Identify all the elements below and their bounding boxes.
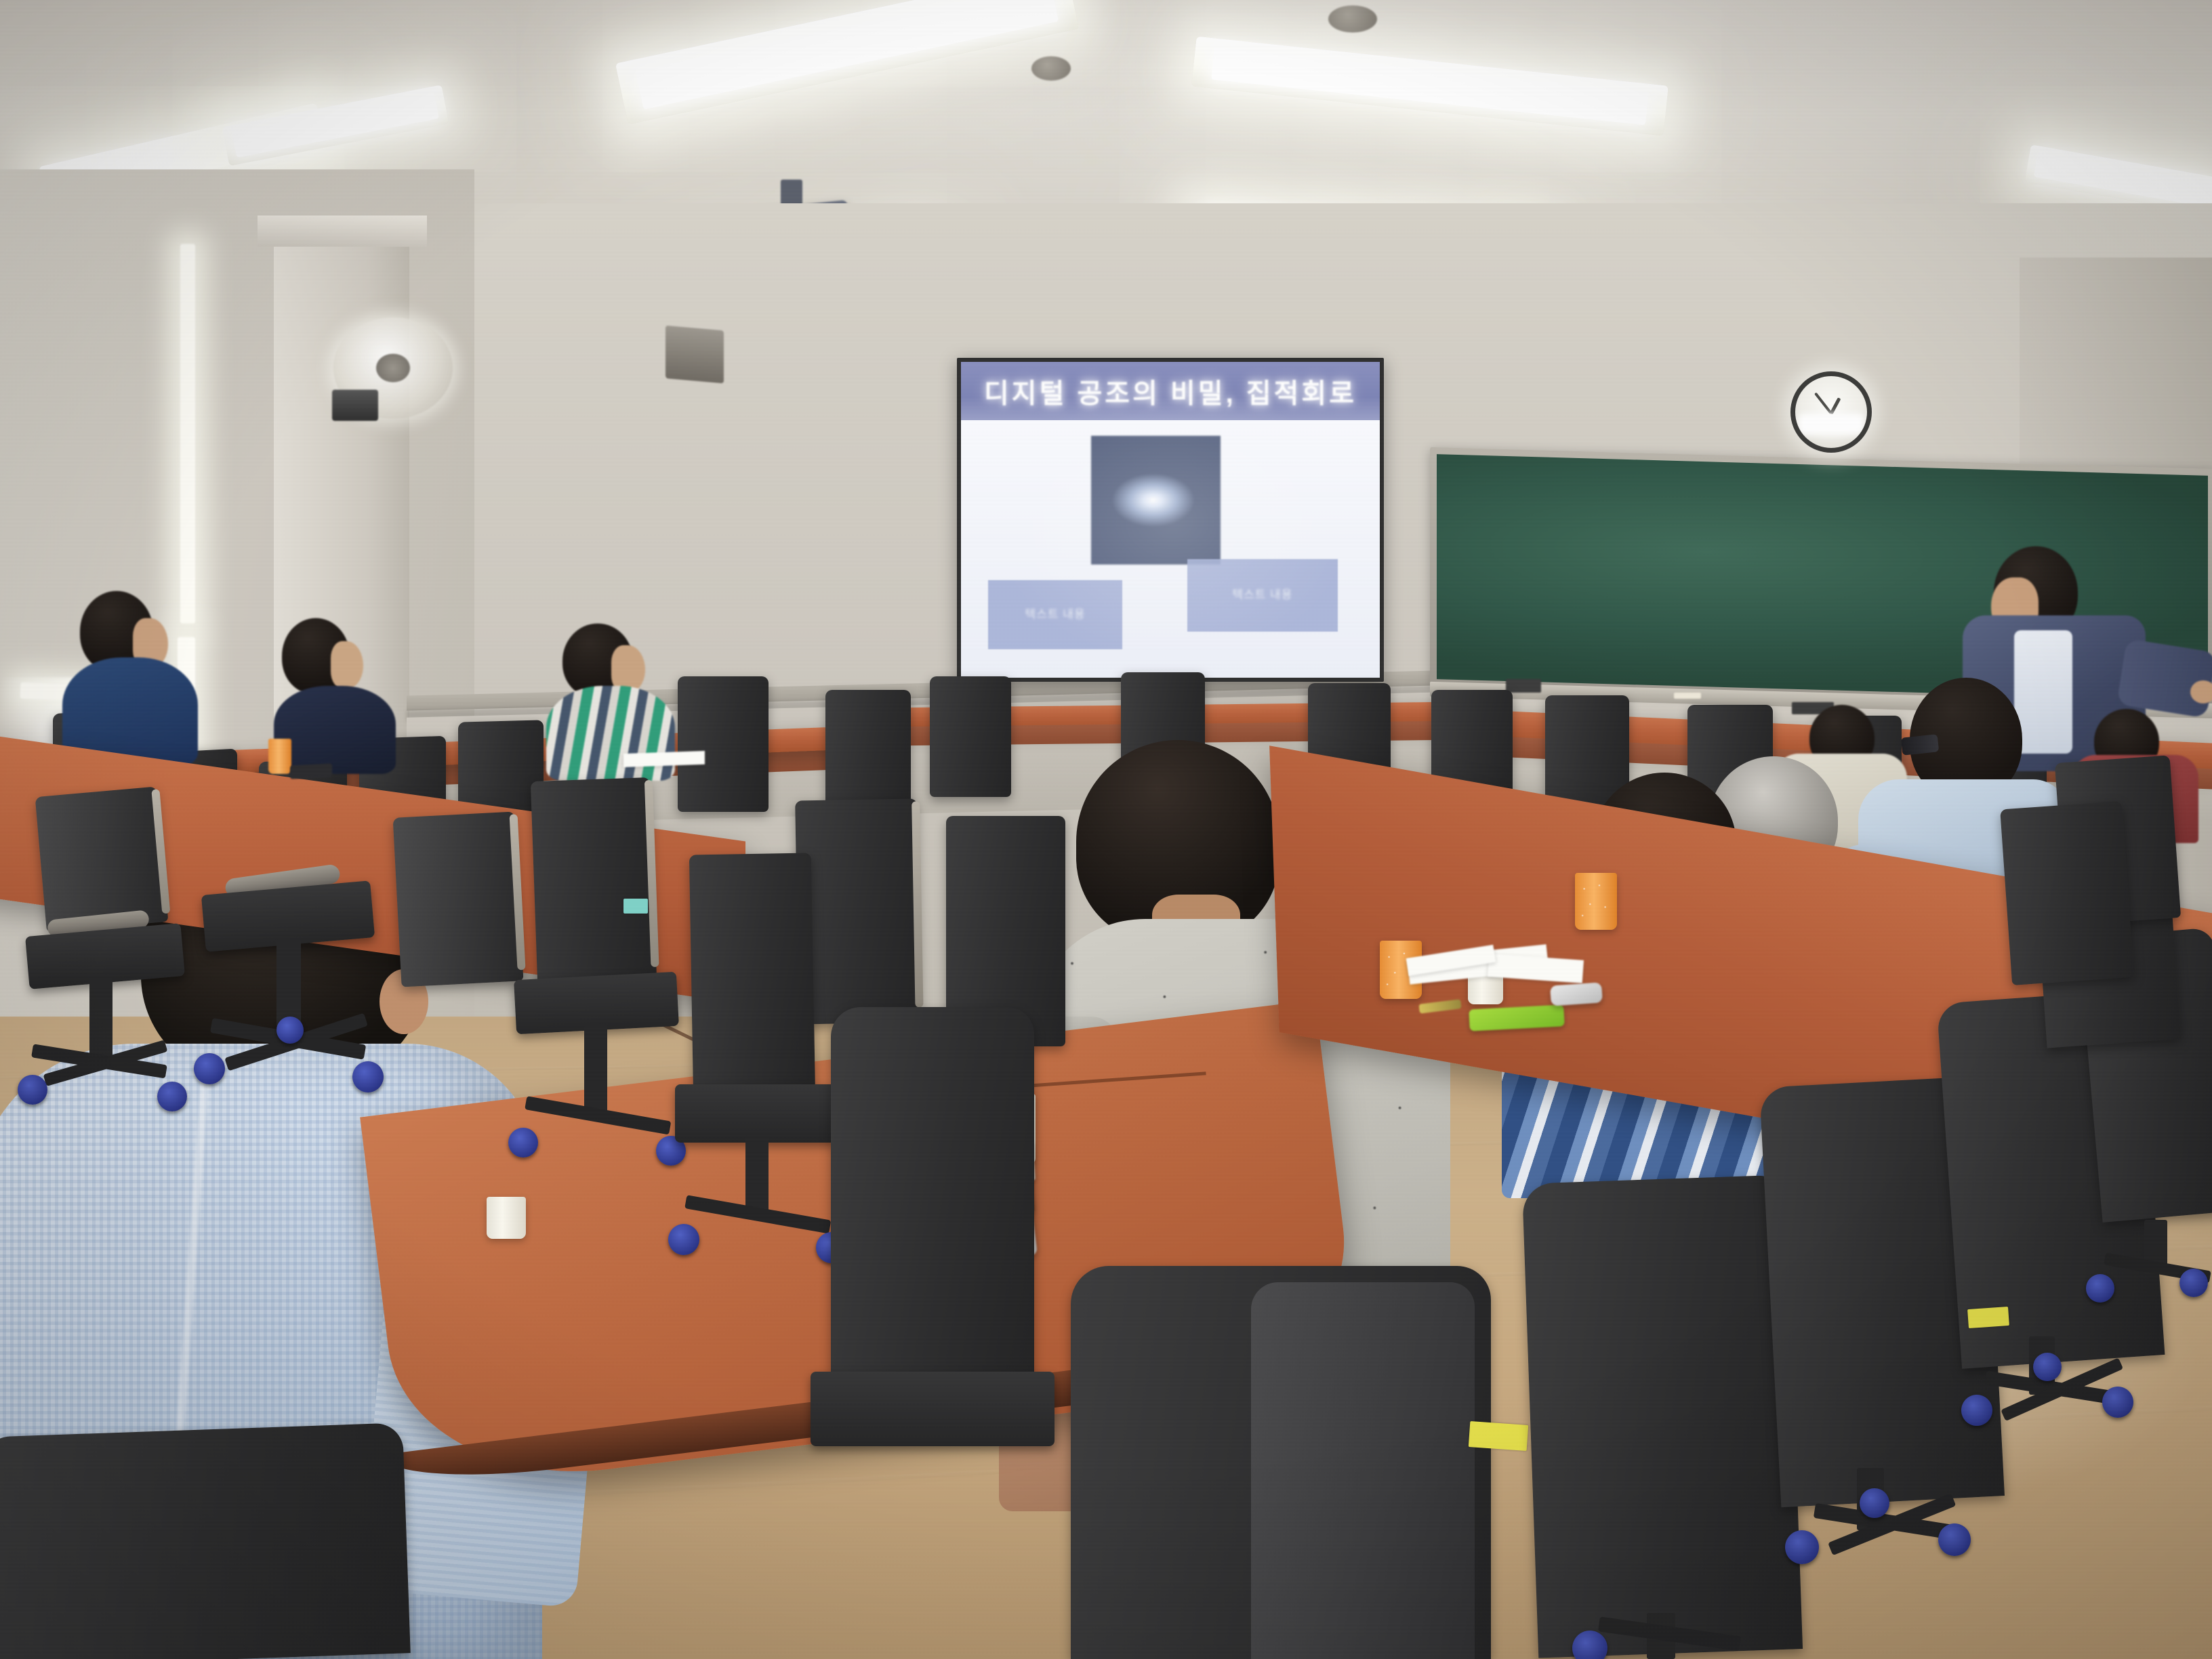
chair-caster: [2179, 1269, 2208, 1297]
chair-caster: [2033, 1353, 2062, 1381]
presenter-arm: [2116, 638, 2212, 718]
chair-asset-tag: [623, 899, 648, 914]
chair-post: [745, 1136, 769, 1217]
smoke-detector-icon: [1031, 56, 1071, 81]
chair-caster: [352, 1061, 384, 1092]
chair-seat[interactable]: [811, 1372, 1054, 1446]
chair-asset-tag: [1469, 1421, 1528, 1451]
chair-caster: [1860, 1488, 1889, 1518]
chair-caster: [1785, 1530, 1819, 1564]
seminar-room-photo: 디지털 공조의 비밀, 집적회로 텍스트 내용 텍스트 내용: [0, 0, 2212, 1659]
window-light-strip: [180, 244, 195, 623]
chair[interactable]: [678, 676, 769, 812]
chair[interactable]: [0, 1422, 411, 1659]
smartphone[interactable]: [1550, 982, 1603, 1006]
presenter-shirt-front: [2014, 630, 2072, 754]
clock-glare: [1798, 413, 1864, 435]
projection-screen-frame: 디지털 공조의 비밀, 집적회로 텍스트 내용 텍스트 내용: [957, 358, 1384, 682]
slide-text-box-right: 텍스트 내용: [1187, 559, 1338, 631]
chair-caster: [2086, 1274, 2114, 1303]
chair[interactable]: [831, 1007, 1034, 1387]
phone-dark[interactable]: [290, 763, 332, 779]
wall-pillar-soffit: [258, 216, 427, 247]
chair[interactable]: [930, 676, 1011, 797]
attendee-torso: [274, 686, 396, 774]
chair-caster: [18, 1075, 47, 1105]
projection-screen: 디지털 공조의 비밀, 집적회로 텍스트 내용 텍스트 내용: [961, 362, 1380, 678]
chair[interactable]: [2000, 801, 2134, 985]
chair[interactable]: [795, 798, 921, 1024]
chair-seat[interactable]: [675, 1084, 838, 1143]
paper-cup[interactable]: [487, 1197, 526, 1239]
presenter-hand: [2190, 680, 2212, 703]
attendee-torso: [546, 686, 675, 781]
smoke-detector-icon: [1328, 5, 1377, 33]
chair-caster: [1938, 1523, 1971, 1556]
chair[interactable]: [689, 853, 815, 1099]
chair-caster: [668, 1224, 699, 1255]
chair-post: [89, 976, 112, 1064]
chair[interactable]: [393, 811, 524, 987]
clock-minute-hand: [1814, 392, 1832, 414]
papers[interactable]: [623, 751, 705, 767]
slide-text-box-left: 텍스트 내용: [988, 580, 1122, 650]
chair[interactable]: [825, 690, 911, 812]
fan-base: [332, 390, 378, 421]
chalkboard-eraser: [1506, 679, 1541, 693]
slide-box-right-text: 텍스트 내용: [1232, 587, 1292, 604]
chair-asset-tag: [1967, 1307, 2009, 1328]
attendee-face: [331, 641, 363, 689]
chair[interactable]: [1522, 1174, 1803, 1658]
slide-title-text: 디지털 공조의 비밀, 집적회로: [984, 371, 1357, 411]
wall-speaker-icon: [665, 325, 724, 384]
wall-clock: [1790, 371, 1872, 453]
slide-title-bar: 디지털 공조의 비밀, 집적회로: [961, 362, 1380, 420]
chair[interactable]: [531, 777, 657, 985]
slide-box-left-text: 텍스트 내용: [1025, 607, 1086, 623]
paper-cup-orange[interactable]: [1575, 873, 1617, 930]
chair-caster: [2102, 1387, 2133, 1418]
chair-caster: [276, 1017, 304, 1044]
chair[interactable]: [35, 787, 169, 933]
chair-caster: [157, 1082, 187, 1111]
chair-back-panel: [1251, 1282, 1475, 1659]
paper-cup-orange[interactable]: [268, 739, 291, 774]
chalk-stick: [1674, 693, 1701, 699]
chair-caster: [1961, 1395, 1992, 1426]
chair-caster: [508, 1128, 538, 1158]
slide-photo-image: [1091, 436, 1221, 565]
chair-post: [584, 1025, 607, 1120]
chair-caster: [194, 1053, 225, 1084]
slide-body: 텍스트 내용 텍스트 내용: [961, 420, 1380, 678]
